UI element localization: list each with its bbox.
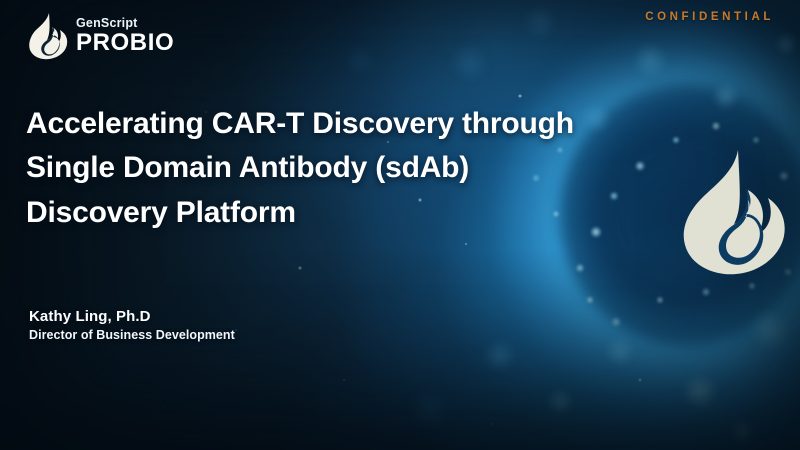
logo-brand-top: GenScript bbox=[76, 17, 174, 30]
logo-wordmark: GenScript PROBIO bbox=[76, 17, 174, 56]
slide-title-line-2: Single Domain Antibody (sdAb) bbox=[26, 146, 626, 190]
confidential-label: CONFIDENTIAL bbox=[645, 11, 774, 23]
droplet-flame-watermark-icon bbox=[676, 148, 792, 276]
presentation-slide: GenScript PROBIO CONFIDENTIAL Accelerati… bbox=[0, 0, 800, 450]
slide-title: Accelerating CAR-T Discovery through Sin… bbox=[26, 102, 626, 235]
genscript-probio-logo: GenScript PROBIO bbox=[28, 12, 174, 60]
presenter-block: Kathy Ling, Ph.D Director of Business De… bbox=[29, 308, 235, 342]
logo-brand-main: PROBIO bbox=[76, 31, 174, 55]
slide-title-line-3: Discovery Platform bbox=[26, 191, 626, 235]
presenter-role: Director of Business Development bbox=[29, 328, 235, 342]
presenter-name: Kathy Ling, Ph.D bbox=[29, 308, 235, 325]
genscript-droplet-mark-icon bbox=[28, 12, 68, 60]
slide-title-line-1: Accelerating CAR-T Discovery through bbox=[26, 102, 626, 146]
